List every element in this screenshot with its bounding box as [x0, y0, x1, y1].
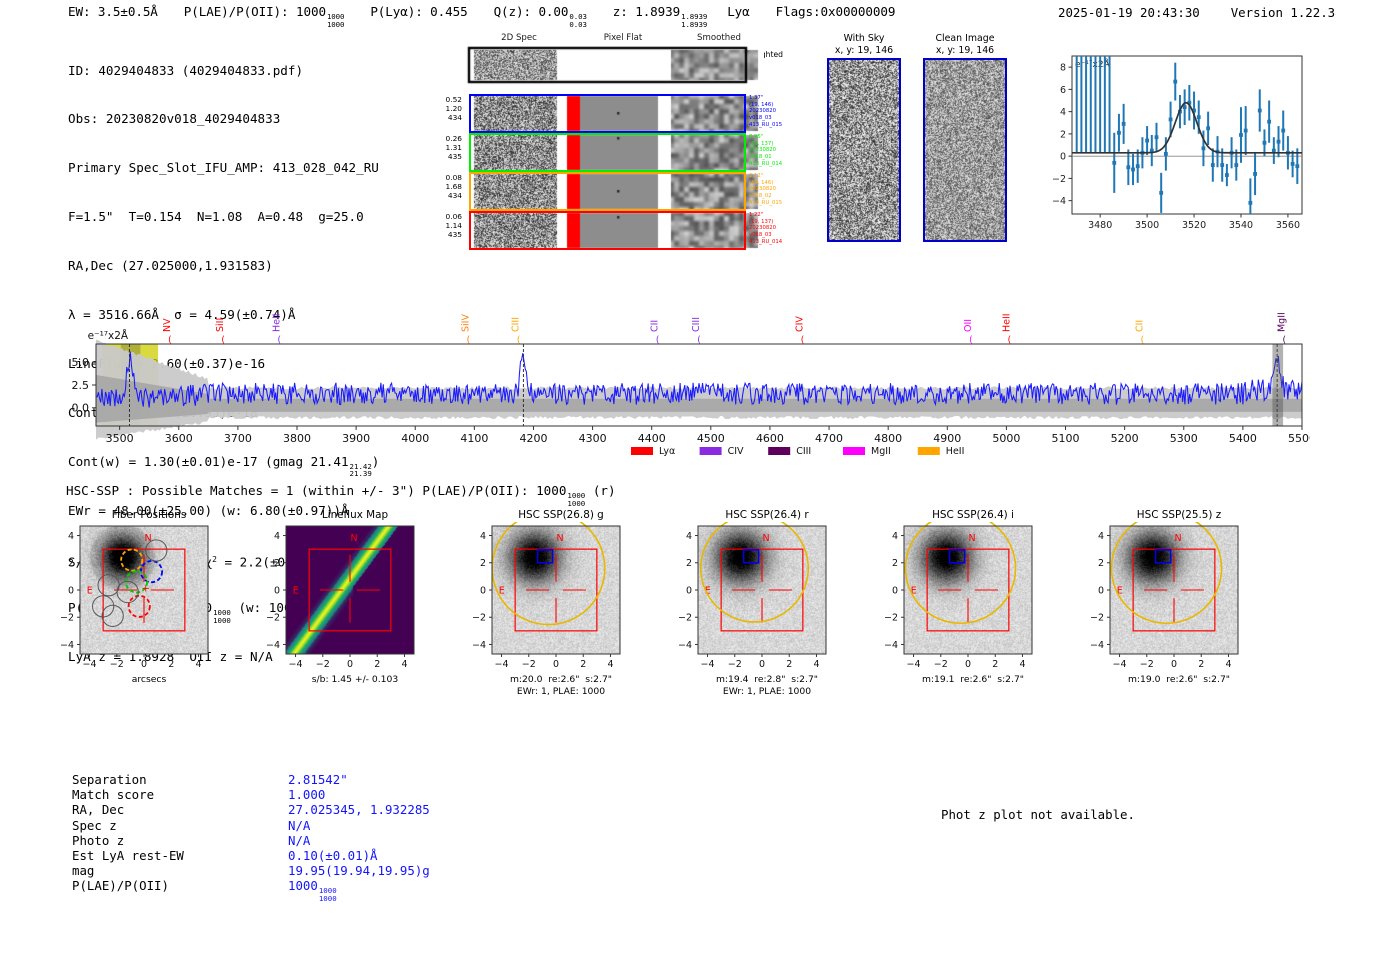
svg-text:E: E: [293, 585, 299, 596]
table-row-value: 27.025345, 1.932285: [288, 802, 430, 817]
with-sky-thumbnail-wrap: With Sky x, y: 19, 146: [820, 33, 908, 242]
svg-text:E: E: [87, 585, 93, 596]
table-row-fraction: 10001000: [319, 887, 337, 902]
svg-text:N: N: [557, 533, 564, 544]
svg-text:0: 0: [141, 659, 147, 670]
svg-text:(: (: [656, 336, 660, 346]
hsc-header-post: (r): [585, 483, 615, 498]
svg-text:4400: 4400: [638, 432, 666, 445]
svg-text:4: 4: [813, 659, 819, 670]
svg-text:−2: −2: [472, 613, 486, 624]
cutout-xlabel: m:19.4 re:2.8" s:2.7": [664, 674, 870, 686]
svg-text:4500: 4500: [697, 432, 725, 445]
svg-text:4: 4: [480, 531, 486, 542]
cutout-sublabel: EWr: 1, PLAE: 1000: [458, 686, 664, 698]
svg-text:4100: 4100: [460, 432, 488, 445]
svg-text:−2: −2: [934, 659, 948, 670]
svg-text:0: 0: [68, 585, 74, 596]
svg-text:3500: 3500: [106, 432, 134, 445]
svg-text:4900: 4900: [933, 432, 961, 445]
svg-text:0: 0: [274, 585, 280, 596]
svg-text:4: 4: [686, 531, 692, 542]
svg-text:4000: 4000: [401, 432, 429, 445]
svg-text:CII: CII: [1134, 320, 1145, 332]
svg-text:(: (: [467, 336, 471, 346]
svg-text:2.5: 2.5: [72, 379, 90, 392]
svg-text:5500: 5500: [1288, 432, 1310, 445]
report-version: Version 1.22.3: [1231, 5, 1335, 20]
svg-text:−4: −4: [884, 640, 898, 651]
svg-text:3480: 3480: [1088, 220, 1112, 231]
svg-text:4: 4: [195, 659, 201, 670]
svg-text:(: (: [278, 336, 282, 346]
svg-text:2: 2: [786, 659, 792, 670]
svg-text:−4: −4: [701, 659, 715, 670]
svg-text:CIII: CIII: [691, 317, 702, 332]
svg-text:0: 0: [480, 585, 486, 596]
header-qz-fraction: 0.030.03: [569, 13, 586, 28]
svg-text:(: (: [1008, 336, 1012, 346]
svg-text:0: 0: [892, 585, 898, 596]
svg-text:4: 4: [607, 659, 613, 670]
info-seeing: F=1.5" T=0.154 N=1.08 A=0.48 g=25.0: [68, 209, 379, 225]
fiber-row-border: [469, 94, 746, 133]
svg-text:SiII: SiII: [215, 318, 226, 332]
svg-text:2: 2: [1198, 659, 1204, 670]
info-primary-spec: Primary Spec_Slot_IFU_AMP: 413_028_042_R…: [68, 160, 379, 176]
cutout-xlabel: m:20.0 re:2.6" s:2.7": [458, 674, 664, 686]
svg-text:3900: 3900: [342, 432, 370, 445]
svg-text:MgII: MgII: [1276, 312, 1287, 332]
svg-text:4200: 4200: [519, 432, 547, 445]
panel-title-smoothed: Smoothed: [671, 33, 767, 43]
info-obs: Obs: 20230820v018_4029404833: [68, 111, 379, 127]
svg-text:−4: −4: [495, 659, 509, 670]
svg-text:−4: −4: [1052, 196, 1066, 207]
svg-text:OII: OII: [963, 319, 974, 332]
cutout-title: HSC SSP(26.8) g: [458, 508, 664, 522]
clean-image-thumbnail-wrap: Clean Image x, y: 19, 146: [916, 33, 1014, 242]
svg-text:CIV: CIV: [794, 316, 805, 332]
table-row-value: 100010001000: [288, 878, 337, 902]
clean-image-title: Clean Image: [916, 33, 1014, 45]
svg-text:4700: 4700: [815, 432, 843, 445]
cutout-xlabel: m:19.1 re:2.6" s:2.7": [870, 674, 1076, 686]
svg-text:0: 0: [1060, 152, 1066, 163]
cutout-xlabel: m:19.0 re:2.6" s:2.7": [1076, 674, 1282, 686]
clean-image-coords: x, y: 19, 146: [916, 45, 1014, 57]
table-row-label: P(LAE)/P(OII): [72, 878, 169, 893]
svg-text:MgII: MgII: [871, 446, 891, 457]
cutout-panel[interactable]: HSC SSP(25.5) zNE−4−2024420−2−4m:19.0 re…: [1076, 508, 1282, 686]
svg-text:3520: 3520: [1182, 220, 1206, 231]
hsc-header-pre: HSC-SSP : Possible Matches = 1 (within +…: [66, 483, 566, 498]
svg-text:CIII: CIII: [511, 317, 522, 332]
svg-text:4: 4: [1019, 659, 1025, 670]
svg-text:(: (: [517, 336, 521, 346]
panel-title-pixelflat: Pixel Flat: [575, 33, 671, 43]
svg-text:−4: −4: [1113, 659, 1127, 670]
table-row-value: 0.10(±0.01)Å: [288, 848, 378, 863]
svg-text:0: 0: [686, 585, 692, 596]
fiber-row-meta: 1.37" (19, 146) 20230820 v018_03 413_RU_…: [749, 95, 782, 129]
timestamp-version: 2025-01-19 20:43:30 Version 1.22.3: [1058, 5, 1335, 20]
svg-text:−2: −2: [110, 659, 124, 670]
svg-text:N: N: [351, 533, 358, 544]
header-z-fraction: 1.89391.8939: [681, 13, 707, 28]
svg-text:(: (: [1283, 336, 1287, 346]
cutout-xlabel: arcsecs: [46, 674, 252, 686]
fiber-row-border: [469, 172, 746, 211]
cutout-sublabel: EWr: 1, PLAE: 1000: [664, 686, 870, 698]
svg-text:−4: −4: [289, 659, 303, 670]
table-row-value: 19.95(19.94,19.95)g: [288, 863, 430, 878]
svg-text:HeII: HeII: [271, 313, 282, 332]
clean-image-image: [923, 58, 1007, 242]
cutout-panel[interactable]: HSC SSP(26.8) gNE−4−2024420−2−4m:20.0 re…: [458, 508, 664, 698]
svg-text:HeII: HeII: [1001, 313, 1012, 332]
table-row-label: mag: [72, 863, 94, 878]
fiber-row-border: [469, 211, 746, 250]
table-row-label: Photo z: [72, 833, 124, 848]
table-row-value: 1.000: [288, 787, 325, 802]
svg-text:4: 4: [1098, 531, 1104, 542]
svg-text:3560: 3560: [1276, 220, 1300, 231]
svg-text:5100: 5100: [1052, 432, 1080, 445]
hsc-ssp-match-header: HSC-SSP : Possible Matches = 1 (within +…: [66, 483, 616, 507]
cutout-panel[interactable]: Fiber PositionsNE+−4−2024420−2−4arcsecs: [46, 508, 252, 686]
svg-text:3500: 3500: [1135, 220, 1159, 231]
svg-text:−4: −4: [83, 659, 97, 670]
svg-text:−4: −4: [266, 640, 280, 651]
svg-text:−2: −2: [728, 659, 742, 670]
svg-text:0: 0: [1098, 585, 1104, 596]
svg-text:2: 2: [168, 659, 174, 670]
svg-text:+: +: [141, 583, 149, 594]
header-z-suffix: Lyα: [727, 4, 749, 19]
svg-text:−2: −2: [1140, 659, 1154, 670]
svg-text:0: 0: [1171, 659, 1177, 670]
svg-text:3540: 3540: [1229, 220, 1253, 231]
svg-text:−2: −2: [316, 659, 330, 670]
svg-text:−4: −4: [678, 640, 692, 651]
svg-text:(: (: [697, 336, 701, 346]
svg-text:0: 0: [759, 659, 765, 670]
svg-text:4: 4: [1060, 107, 1066, 118]
svg-text:5.0: 5.0: [72, 356, 90, 369]
svg-text:2: 2: [374, 659, 380, 670]
cutout-panel[interactable]: Lineflux MapNE−4−2024420−2−4s/b: 1.45 +/…: [252, 508, 458, 686]
header-summary-line: EW: 3.5±0.5Å P(LAE)/P(OII): 100010001000…: [68, 4, 895, 28]
svg-text:3700: 3700: [224, 432, 252, 445]
fiber-row-meta: 2.12" (19, 146) 20230820 v018_02 413_RU_…: [749, 173, 782, 207]
svg-text:−4: −4: [907, 659, 921, 670]
header-ew: EW: 3.5±0.5Å: [68, 4, 158, 19]
svg-text:−4: −4: [472, 640, 486, 651]
table-row-value: N/A: [288, 833, 310, 848]
svg-text:N: N: [145, 533, 152, 544]
fiber-row-meta: 1.22" (19, 137) 20230820 v018_03 413_RU_…: [749, 212, 782, 246]
svg-text:(: (: [221, 336, 225, 346]
fiber-row-values: 0.261.31435: [434, 134, 462, 162]
svg-text:−2: −2: [522, 659, 536, 670]
svg-text:4: 4: [274, 531, 280, 542]
svg-text:(: (: [168, 336, 172, 346]
table-row-value: 2.81542": [288, 772, 348, 787]
panel-title-2dspec: 2D Spec: [471, 33, 567, 43]
fiber-row-values: 0.521.20434: [434, 95, 462, 123]
svg-text:NV: NV: [162, 318, 173, 332]
cutout-panel[interactable]: HSC SSP(26.4) rNE−4−2024420−2−4m:19.4 re…: [664, 508, 870, 698]
svg-text:0.0: 0.0: [72, 402, 90, 415]
cutout-title: HSC SSP(26.4) r: [664, 508, 870, 522]
svg-text:3600: 3600: [165, 432, 193, 445]
svg-text:−2: −2: [60, 613, 74, 624]
svg-text:0: 0: [965, 659, 971, 670]
svg-text:−2: −2: [678, 613, 692, 624]
table-row-label: Match score: [72, 787, 154, 802]
header-plya: P(Lyα): 0.455: [370, 4, 467, 19]
svg-text:CIII: CIII: [796, 446, 811, 457]
with-sky-title: With Sky: [820, 33, 908, 45]
cutout-xlabel: s/b: 1.45 +/- 0.103: [252, 674, 458, 686]
svg-text:N: N: [763, 533, 770, 544]
svg-text:2: 2: [1098, 558, 1104, 569]
svg-text:N: N: [1175, 533, 1182, 544]
photz-note: Phot z plot not available.: [941, 807, 1135, 822]
table-row-label: Est LyA rest-EW: [72, 848, 184, 863]
header-plae-fraction: 10001000: [327, 13, 344, 28]
with-sky-coords: x, y: 19, 146: [820, 45, 908, 57]
fiber-row-meta: 0.95" (19, 137) 20230820 v018_01 413_RU_…: [749, 134, 782, 168]
svg-text:4300: 4300: [579, 432, 607, 445]
cutout-title: Fiber Positions: [46, 508, 252, 522]
two-d-spectrum-panel: 2D Spec Pixel Flat Smoothed Weighted Sum…: [434, 33, 764, 258]
svg-text:SiIV: SiIV: [460, 314, 471, 332]
svg-text:5400: 5400: [1229, 432, 1257, 445]
table-row-value: N/A: [288, 818, 310, 833]
header-flags: Flags:0x00000009: [776, 4, 896, 19]
svg-text:2: 2: [892, 558, 898, 569]
svg-text:−2: −2: [1090, 613, 1104, 624]
svg-text:N: N: [969, 533, 976, 544]
svg-text:e⁻¹⁷x2Å: e⁻¹⁷x2Å: [88, 329, 129, 342]
svg-text:−2: −2: [266, 613, 280, 624]
svg-text:2: 2: [686, 558, 692, 569]
header-z: z: 1.8939: [613, 4, 680, 19]
svg-text:5200: 5200: [1111, 432, 1139, 445]
fiber-row-values: 0.081.68434: [434, 173, 462, 201]
svg-text:0: 0: [553, 659, 559, 670]
svg-text:−4: −4: [60, 640, 74, 651]
svg-text:2: 2: [1060, 129, 1066, 140]
svg-text:HeII: HeII: [946, 446, 965, 457]
header-plae-label: P(LAE)/P(OII): 1000: [184, 4, 326, 19]
fiber-row-values: 0.061.14435: [434, 212, 462, 240]
svg-text:(: (: [801, 336, 805, 346]
table-row-label: Spec z: [72, 818, 117, 833]
table-row-label: Separation: [72, 772, 147, 787]
info-id: ID: 4029404833 (4029404833.pdf): [68, 63, 379, 79]
svg-text:4: 4: [401, 659, 407, 670]
svg-text:(: (: [969, 336, 973, 346]
report-timestamp: 2025-01-19 20:43:30: [1058, 5, 1200, 20]
emission-line-zoom-plot: 34803500352035403560−4−202468e⁻¹⁷x2Å: [1040, 48, 1308, 240]
svg-text:2: 2: [68, 558, 74, 569]
svg-text:5300: 5300: [1170, 432, 1198, 445]
cutout-title: Lineflux Map: [252, 508, 458, 522]
svg-text:2: 2: [480, 558, 486, 569]
svg-text:4800: 4800: [874, 432, 902, 445]
svg-text:4600: 4600: [756, 432, 784, 445]
cutout-panel-row: Fiber PositionsNE+−4−2024420−2−4arcsecsL…: [46, 508, 1366, 738]
svg-text:6: 6: [1060, 85, 1066, 96]
hsc-header-fraction: 10001000: [567, 492, 585, 507]
cutout-title: HSC SSP(25.5) z: [1076, 508, 1282, 522]
svg-text:5000: 5000: [992, 432, 1020, 445]
full-spectrum-plot: 3500360037003800390040004100420043004400…: [60, 300, 1310, 470]
svg-text:CII: CII: [650, 320, 661, 332]
svg-text:2: 2: [274, 558, 280, 569]
svg-text:8: 8: [1060, 63, 1066, 74]
svg-text:0: 0: [347, 659, 353, 670]
svg-text:4: 4: [1225, 659, 1231, 670]
svg-text:3800: 3800: [283, 432, 311, 445]
svg-text:CIV: CIV: [728, 446, 744, 457]
info-radec: RA,Dec (27.025000,1.931583): [68, 258, 379, 274]
cutout-panel[interactable]: HSC SSP(26.4) iNE−4−2024420−2−4m:19.1 re…: [870, 508, 1076, 686]
svg-text:4: 4: [892, 531, 898, 542]
with-sky-image: [827, 58, 901, 242]
svg-text:2: 2: [992, 659, 998, 670]
svg-text:4: 4: [68, 531, 74, 542]
svg-text:Lyα: Lyα: [659, 446, 675, 457]
fiber-row-border: [469, 133, 746, 172]
svg-text:−2: −2: [1052, 174, 1066, 185]
cutout-title: HSC SSP(26.4) i: [870, 508, 1076, 522]
table-row-label: RA, Dec: [72, 802, 124, 817]
svg-text:−4: −4: [1090, 640, 1104, 651]
svg-text:(: (: [1141, 336, 1145, 346]
svg-text:2: 2: [580, 659, 586, 670]
svg-text:−2: −2: [884, 613, 898, 624]
header-qz: Q(z): 0.00: [494, 4, 569, 19]
